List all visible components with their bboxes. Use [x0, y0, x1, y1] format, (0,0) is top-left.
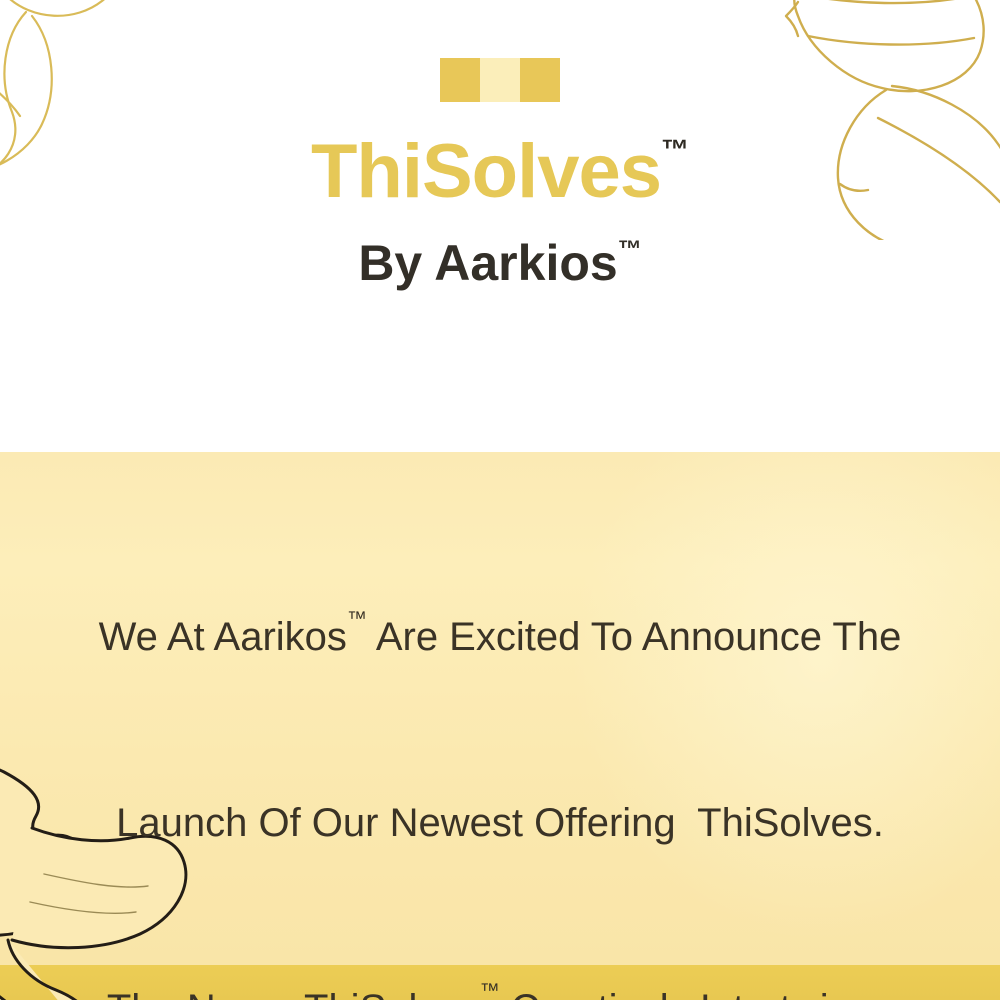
trademark-icon: ™: [347, 608, 367, 630]
line-text: We At Aarikos: [99, 615, 347, 659]
logo-swatch-right: [520, 58, 560, 102]
announcement-paragraph: We At Aarikos™ Are Excited To Announce T…: [40, 482, 960, 1000]
line-text-tail: Are Excited To Announce The: [367, 615, 901, 659]
trademark-icon: ™: [480, 980, 500, 1000]
poster-canvas: ThiSolves™ By Aarkios™ We At Aarikos™ Ar…: [0, 0, 1000, 1000]
brand-logo-mark: [440, 58, 560, 102]
line-text: Launch Of Our Newest Offering ThiSolves.: [116, 801, 884, 845]
line-text-tail: Creatively Intertwines: [500, 987, 893, 1000]
brand-byline-trademark-icon: ™: [618, 236, 642, 263]
logo-swatch-left: [440, 58, 480, 102]
line-text: The Name ThiSolves: [107, 987, 480, 1000]
brand-byline: By Aarkios™: [0, 238, 1000, 288]
paragraph-line: Launch Of Our Newest Offering ThiSolves.: [40, 792, 960, 854]
brand-title: ThiSolves™: [0, 134, 1000, 210]
brand-title-text: ThiSolves: [311, 129, 661, 214]
paragraph-line: The Name ThiSolves™ Creatively Intertwin…: [40, 978, 960, 1000]
paragraph-line: We At Aarikos™ Are Excited To Announce T…: [40, 606, 960, 668]
brand-byline-text: By Aarkios: [358, 235, 617, 291]
logo-swatch-middle: [480, 58, 520, 102]
brand-title-trademark-icon: ™: [661, 134, 689, 165]
